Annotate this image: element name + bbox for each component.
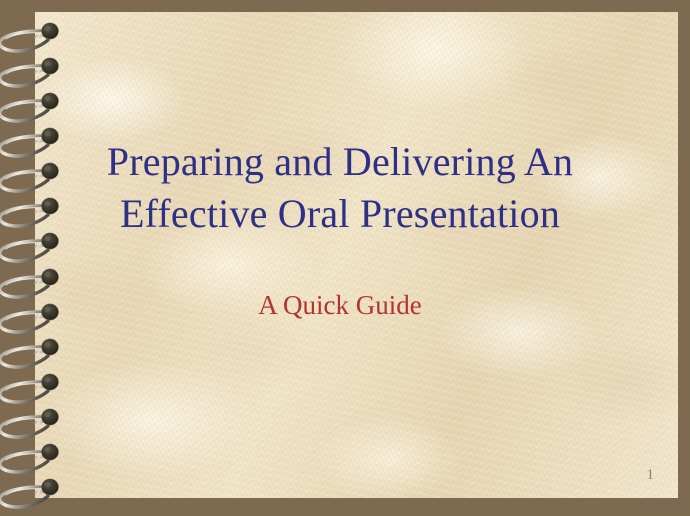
- slide-subtitle-container: A Quick Guide: [35, 288, 645, 322]
- slide-subtitle: A Quick Guide: [35, 288, 645, 322]
- page-number: 1: [647, 466, 655, 484]
- paper-sheet: [35, 12, 678, 498]
- title-line-2: Effective Oral Presentation: [35, 188, 645, 240]
- slide-title: Preparing and Delivering An Effective Or…: [35, 136, 645, 240]
- presentation-slide: Preparing and Delivering An Effective Or…: [0, 0, 690, 516]
- title-line-1: Preparing and Delivering An: [35, 136, 645, 188]
- paper-grain-overlay: [35, 12, 678, 498]
